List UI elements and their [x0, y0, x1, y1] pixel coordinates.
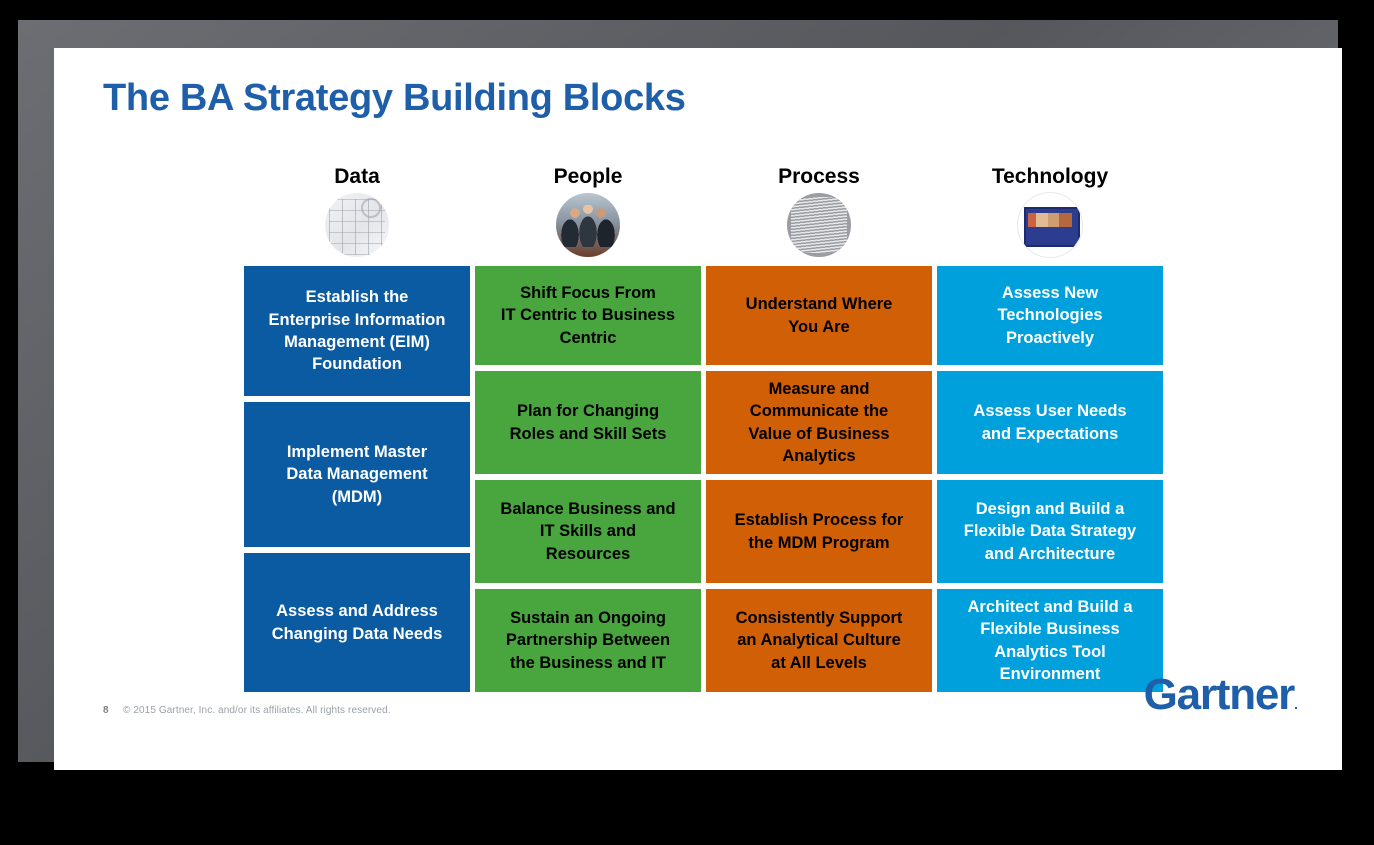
- building-block[interactable]: Design and Build a Flexible Data Strateg…: [937, 480, 1163, 583]
- column-header-label: Data: [244, 166, 470, 187]
- gartner-logo-text: Gartner: [1144, 670, 1295, 719]
- building-block[interactable]: Understand Where You Are: [706, 266, 932, 365]
- building-block[interactable]: Establish the Enterprise Information Man…: [244, 266, 470, 396]
- blueprint-drawing-icon: [325, 193, 389, 257]
- toolbox-icon: [1017, 192, 1083, 258]
- building-block[interactable]: Sustain an Ongoing Partnership Between t…: [475, 589, 701, 692]
- column-icon-container: [244, 192, 470, 258]
- building-block[interactable]: Plan for Changing Roles and Skill Sets: [475, 371, 701, 474]
- registered-mark-icon: .: [1294, 696, 1298, 712]
- screenshot-stage: The BA Strategy Building Blocks DataEsta…: [0, 0, 1374, 845]
- building-block[interactable]: Assess and Address Changing Data Needs: [244, 553, 470, 692]
- presentation-slide: The BA Strategy Building Blocks DataEsta…: [54, 48, 1342, 770]
- slide-frame: The BA Strategy Building Blocks DataEsta…: [18, 20, 1338, 762]
- team-people-icon: [556, 193, 620, 257]
- copyright-notice: © 2015 Gartner, Inc. and/or its affiliat…: [123, 705, 391, 716]
- building-block[interactable]: Architect and Build a Flexible Business …: [937, 589, 1163, 692]
- building-block[interactable]: Implement Master Data Management (MDM): [244, 402, 470, 547]
- building-block[interactable]: Measure and Communicate the Value of Bus…: [706, 371, 932, 474]
- building-block[interactable]: Establish Process for the MDM Program: [706, 480, 932, 583]
- matrix-column-data: DataEstablish the Enterprise Information…: [244, 166, 470, 698]
- column-header-label: Technology: [937, 166, 1163, 187]
- column-header-label: Process: [706, 166, 932, 187]
- column-icon-container: [706, 192, 932, 258]
- building-blocks-matrix: DataEstablish the Enterprise Information…: [54, 48, 1342, 770]
- column-icon-container: [475, 192, 701, 258]
- building-block[interactable]: Assess New Technologies Proactively: [937, 266, 1163, 365]
- building-block[interactable]: Balance Business and IT Skills and Resou…: [475, 480, 701, 583]
- column-header-label: People: [475, 166, 701, 187]
- building-block[interactable]: Assess User Needs and Expectations: [937, 371, 1163, 474]
- gartner-logo: Gartner.: [1144, 670, 1298, 720]
- building-block[interactable]: Consistently Support an Analytical Cultu…: [706, 589, 932, 692]
- column-icon-container: [937, 192, 1163, 258]
- handwriting-board-icon: [787, 193, 851, 257]
- matrix-column-technology: TechnologyAssess New Technologies Proact…: [937, 166, 1163, 698]
- matrix-column-process: ProcessUnderstand Where You AreMeasure a…: [706, 166, 932, 698]
- matrix-column-people: PeopleShift Focus From IT Centric to Bus…: [475, 166, 701, 698]
- building-block[interactable]: Shift Focus From IT Centric to Business …: [475, 266, 701, 365]
- page-number: 8: [103, 705, 109, 716]
